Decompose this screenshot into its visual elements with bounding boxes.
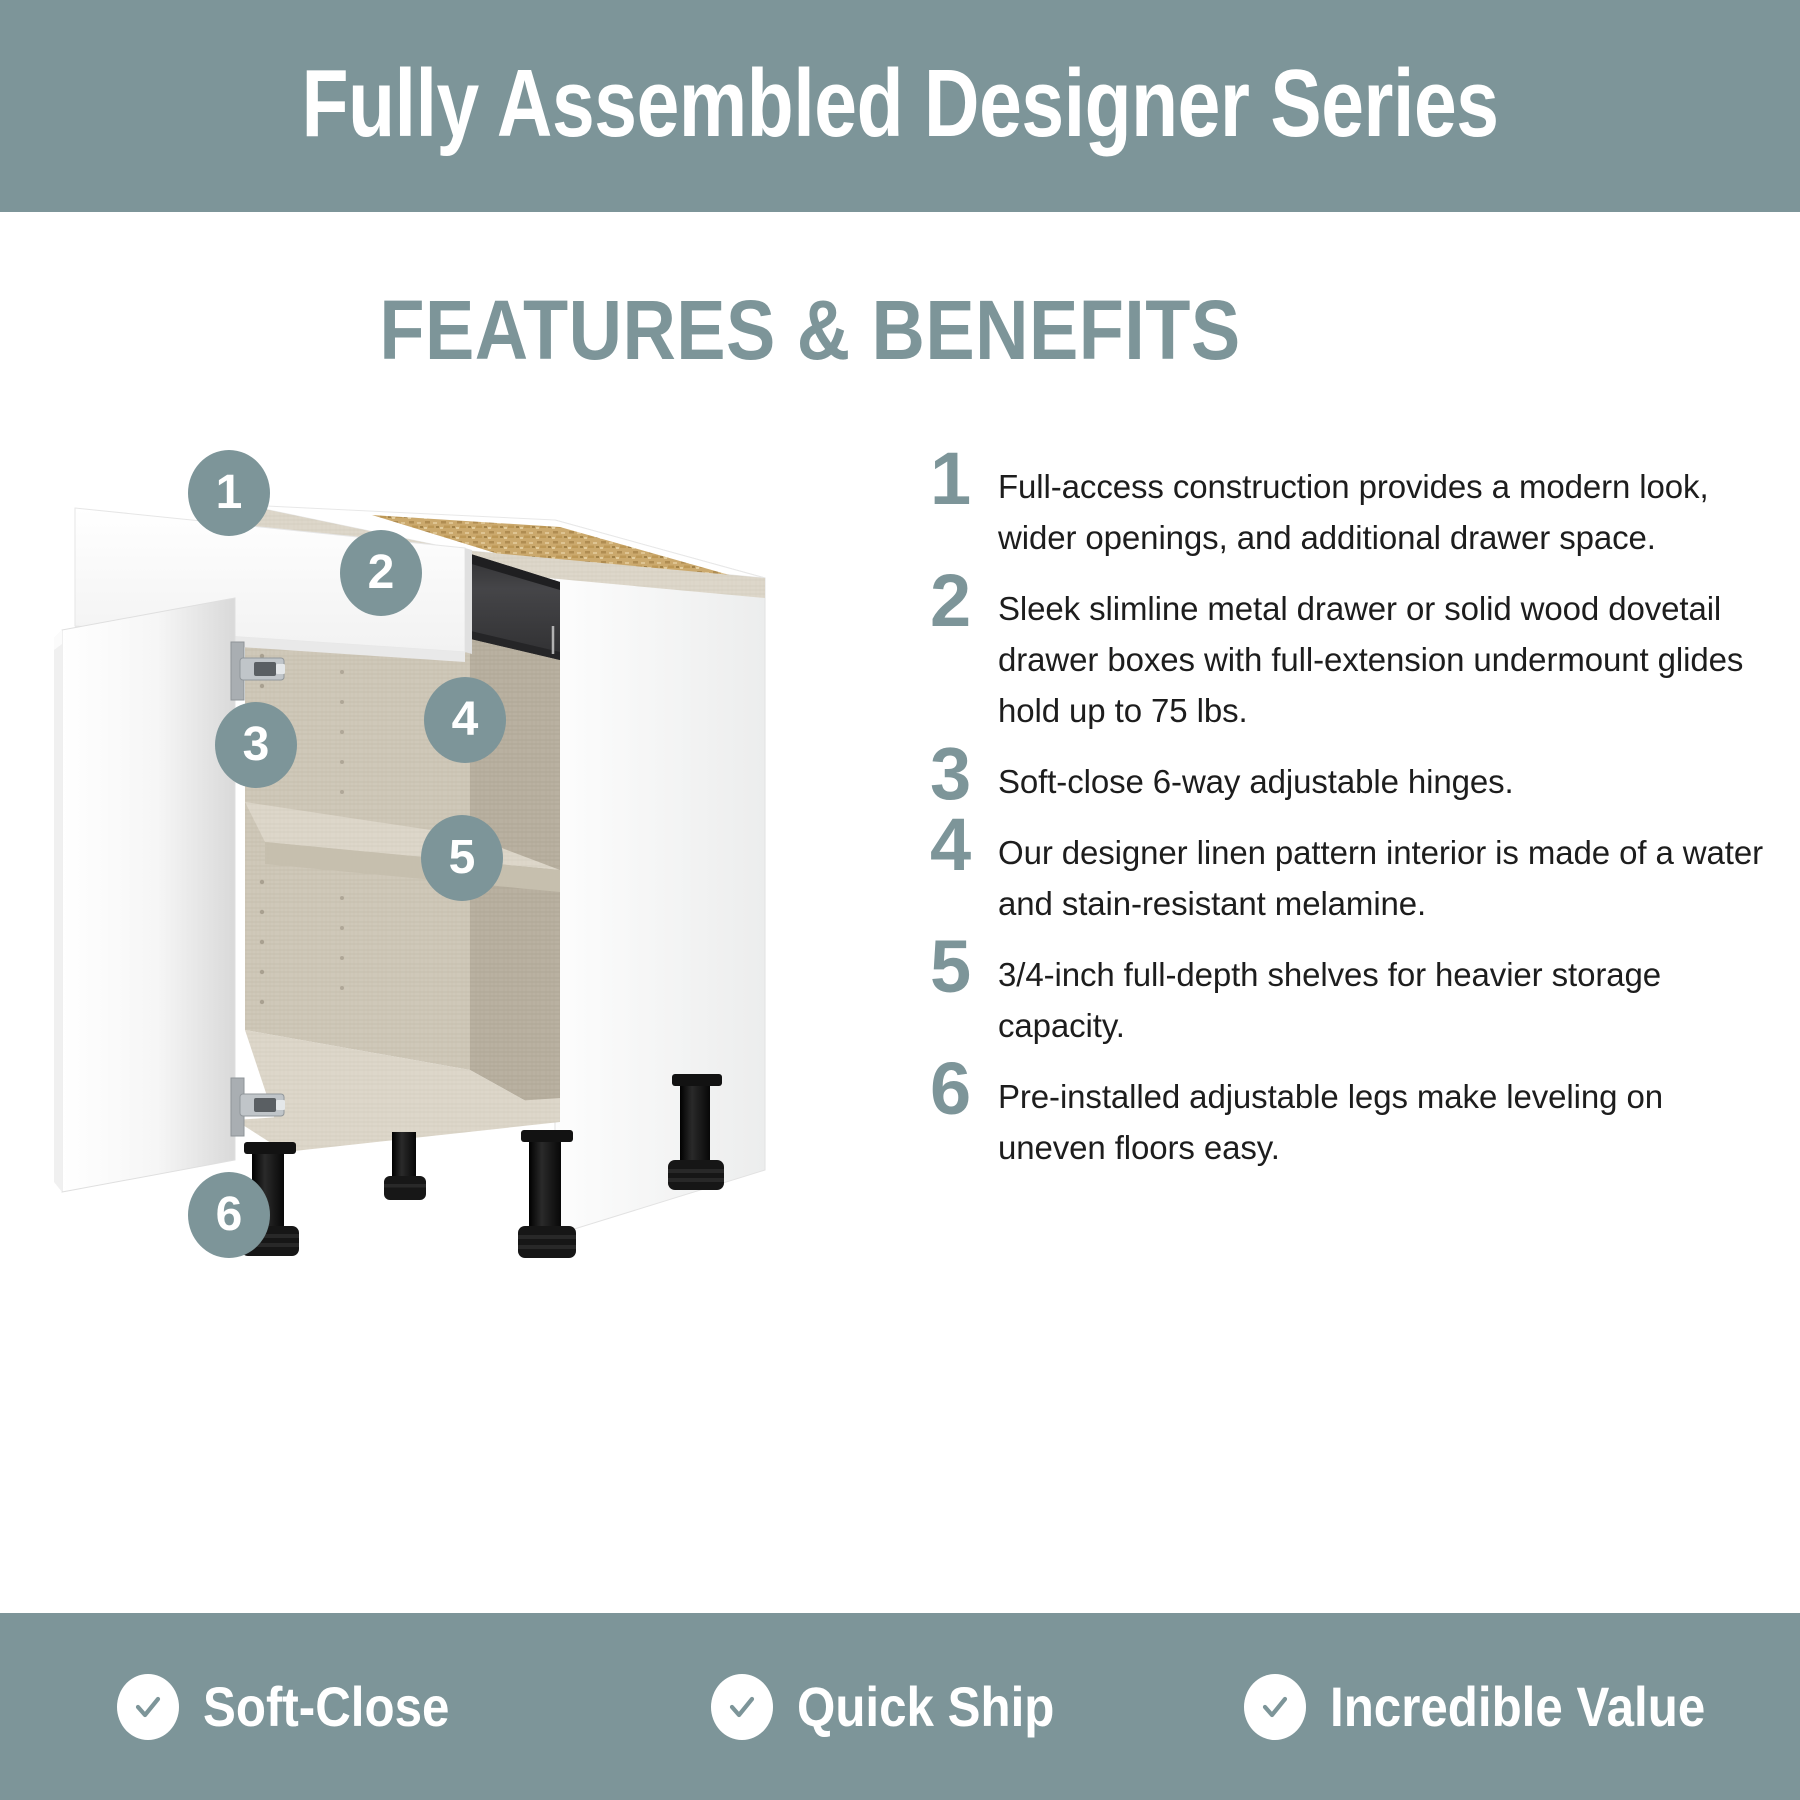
header-bar: Fully Assembled Designer Series	[0, 0, 1800, 212]
feature-item: 2 Sleek slimline metal drawer or solid w…	[930, 577, 1770, 736]
feature-item: 6 Pre-installed adjustable legs make lev…	[930, 1065, 1770, 1173]
callout-number: 5	[449, 834, 476, 882]
callout-number: 2	[368, 549, 395, 597]
check-circle-icon	[117, 1674, 179, 1740]
callout-number: 1	[216, 469, 243, 517]
feature-item: 3 Soft-close 6-way adjustable hinges.	[930, 750, 1770, 807]
cabinet-door	[54, 598, 235, 1192]
callout-badge-6: 6	[188, 1172, 270, 1258]
callout-badge-4: 4	[424, 677, 506, 763]
feature-item: 4 Our designer linen pattern interior is…	[930, 821, 1770, 929]
feature-number: 4	[930, 813, 998, 877]
footer-badge-quick-ship: Quick Ship	[600, 1674, 1200, 1740]
footer-badge-incredible-value: Incredible Value	[1200, 1674, 1800, 1740]
check-circle-icon	[1244, 1674, 1306, 1740]
infographic-page: Fully Assembled Designer Series FEATURES…	[0, 0, 1800, 1800]
feature-item: 5 3/4-inch full-depth shelves for heavie…	[930, 943, 1770, 1051]
callout-badge-1: 1	[188, 450, 270, 536]
check-circle-icon	[711, 1674, 773, 1740]
feature-number: 1	[930, 447, 998, 511]
callout-number: 6	[216, 1191, 243, 1239]
feature-number: 5	[930, 935, 998, 999]
footer-bar: Soft-Close Quick Ship Incredible Value	[0, 1613, 1800, 1800]
feature-text: Soft-close 6-way adjustable hinges.	[998, 750, 1770, 807]
footer-badge-soft-close: Soft-Close	[0, 1674, 600, 1740]
features-list: 1 Full-access construction provides a mo…	[930, 455, 1770, 1187]
feature-item: 1 Full-access construction provides a mo…	[930, 455, 1770, 563]
feature-text: Pre-installed adjustable legs make level…	[998, 1065, 1770, 1173]
feature-number: 2	[930, 569, 998, 633]
callout-number: 3	[243, 721, 270, 769]
callout-badge-5: 5	[421, 815, 503, 901]
callout-badge-3: 3	[215, 702, 297, 788]
page-title: Fully Assembled Designer Series	[302, 56, 1499, 152]
feature-text: Full-access construction provides a mode…	[998, 455, 1770, 563]
footer-label: Quick Ship	[797, 1679, 1054, 1735]
footer-label: Soft-Close	[203, 1679, 449, 1735]
section-heading: FEATURES & BENEFITS	[97, 288, 1523, 372]
feature-number: 6	[930, 1057, 998, 1121]
feature-number: 3	[930, 742, 998, 806]
feature-text: 3/4-inch full-depth shelves for heavier …	[998, 943, 1770, 1051]
footer-label: Incredible Value	[1330, 1679, 1705, 1735]
feature-text: Our designer linen pattern interior is m…	[998, 821, 1770, 929]
callout-badge-2: 2	[340, 530, 422, 616]
feature-text: Sleek slimline metal drawer or solid woo…	[998, 577, 1770, 736]
adjustable-leg	[384, 1132, 426, 1200]
callout-number: 4	[452, 696, 479, 744]
